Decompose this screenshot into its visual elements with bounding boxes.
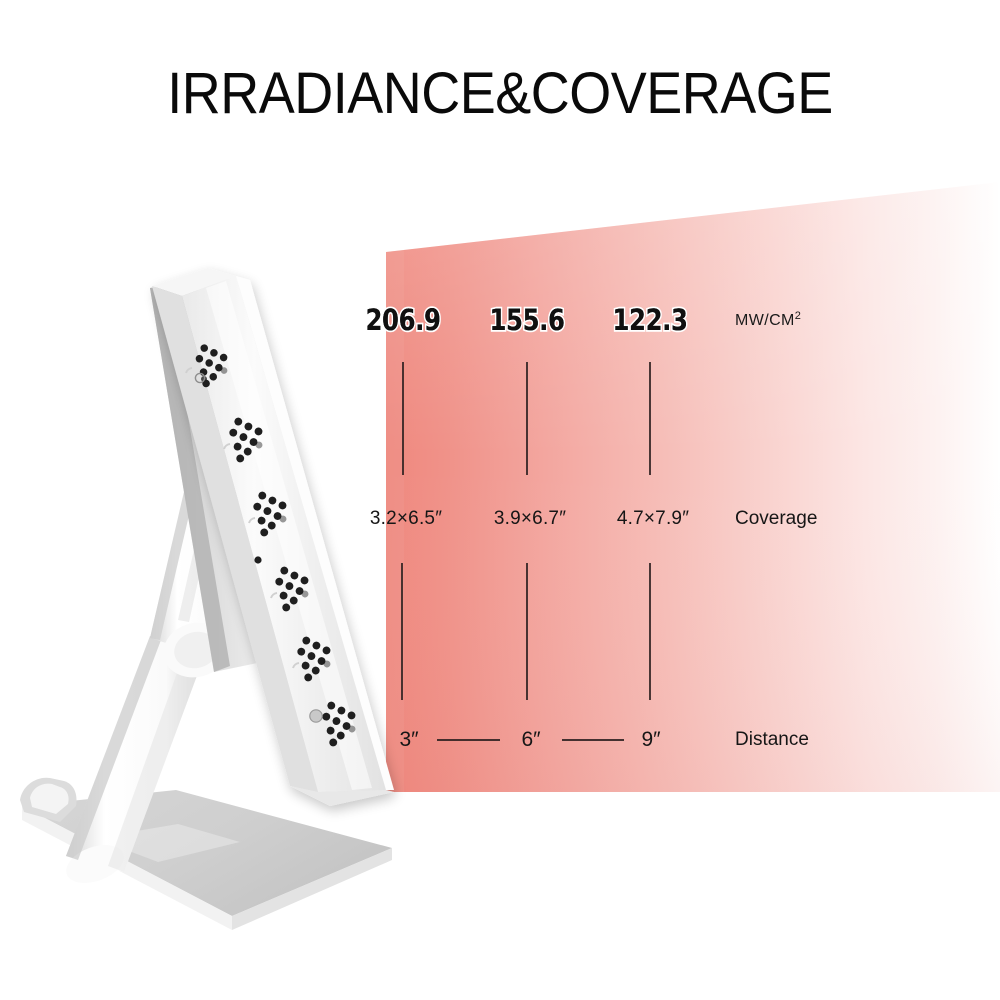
irradiance-unit-superscript: 2: [795, 310, 802, 322]
coverage-value-3: 4.7×7.9″: [617, 508, 689, 530]
distance-value-1: 3″: [399, 728, 418, 752]
irradiance-value-3-fill: 122.3: [613, 303, 688, 337]
infographic-canvas: IRRADIANCE&COVERAGE: [0, 0, 1000, 1000]
irradiance-value-2-fill: 155.6: [490, 303, 565, 337]
distance-label: Distance: [735, 729, 809, 751]
coverage-value-1: 3.2×6.5″: [370, 508, 442, 530]
distance-value-3: 9″: [641, 728, 660, 752]
distance-value-2: 6″: [521, 728, 540, 752]
irradiance-unit-text: MW/CM: [735, 312, 795, 329]
coverage-label: Coverage: [735, 508, 817, 530]
irradiance-unit-label: MW/CM2: [735, 310, 801, 330]
irradiance-value-1-fill: 206.9: [366, 303, 441, 337]
light-beam: [386, 182, 1000, 792]
coverage-value-2: 3.9×6.7″: [494, 508, 566, 530]
scene-illustration: [0, 0, 1000, 1000]
